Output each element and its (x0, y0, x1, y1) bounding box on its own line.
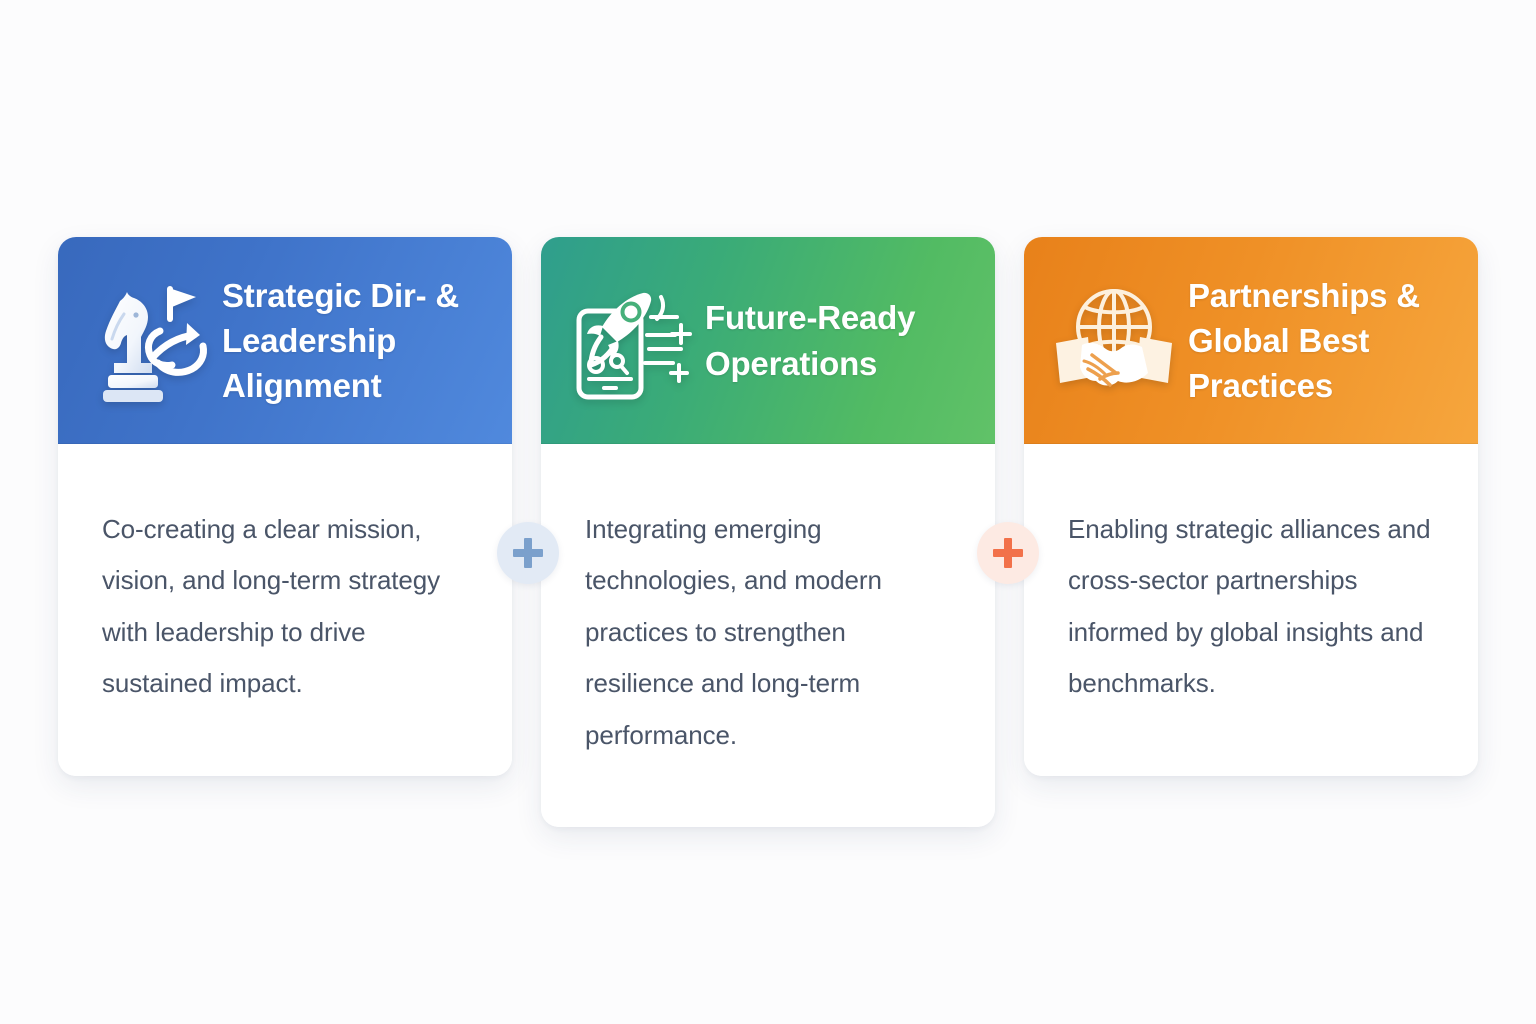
connector-plus-badge-1 (497, 522, 559, 584)
card-header-partnerships: Partnerships & Global Best Practices (1024, 237, 1478, 444)
connector-plus-badge-2 (977, 522, 1039, 584)
rocket-tablet-innovation-icon (567, 275, 695, 407)
card-header-strategic-direction: Strategic Dir- & Leadership Alignment (58, 237, 512, 444)
cards-row: Strategic Dir- & Leadership Alignment Co… (58, 237, 1478, 767)
card-title: Future-Ready Operations (705, 295, 973, 385)
handshake-globe-partnership-icon (1050, 275, 1178, 407)
card-body-strategic-direction: Co-creating a clear mission, vision, and… (58, 444, 512, 776)
card-partnerships-global-best-practices[interactable]: Partnerships & Global Best Practices Ena… (1024, 237, 1478, 776)
card-body-future-ready-operations: Integrating emerging technologies, and m… (541, 444, 995, 827)
card-description: Enabling strategic alliances and cross-s… (1068, 504, 1444, 710)
card-description: Integrating emerging technologies, and m… (585, 504, 961, 761)
card-title: Strategic Dir- & Leadership Alignment (222, 273, 490, 409)
chess-knight-strategy-icon (84, 275, 212, 407)
card-body-partnerships: Enabling strategic alliances and cross-s… (1024, 444, 1478, 776)
card-strategic-direction[interactable]: Strategic Dir- & Leadership Alignment Co… (58, 237, 512, 776)
plus-icon (993, 538, 1023, 568)
card-future-ready-operations[interactable]: Future-Ready Operations Integrating emer… (541, 237, 995, 827)
card-description: Co-creating a clear mission, vision, and… (102, 504, 478, 710)
card-title: Partnerships & Global Best Practices (1188, 273, 1456, 409)
plus-icon (513, 538, 543, 568)
infographic-stage: Strategic Dir- & Leadership Alignment Co… (0, 0, 1536, 1024)
card-header-future-ready-operations: Future-Ready Operations (541, 237, 995, 444)
